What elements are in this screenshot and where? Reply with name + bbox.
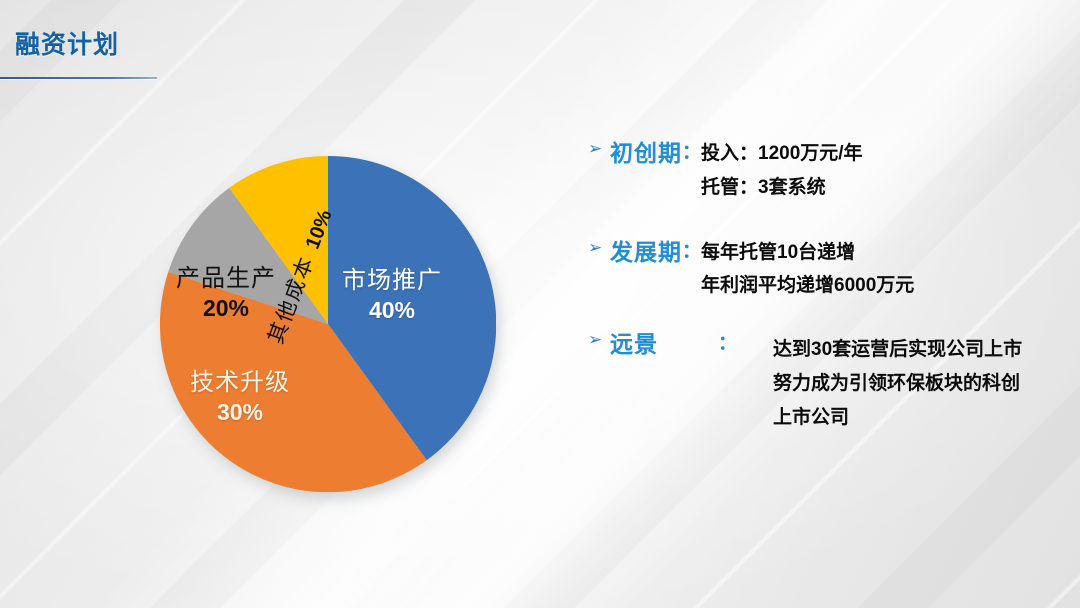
bullet-heading: 远景 — [610, 325, 718, 359]
arrow-bullet-icon: ➢ — [588, 140, 610, 157]
title-underline-rule — [0, 77, 157, 79]
bullet-list: ➢ 初创期 ： 投入：1200万元/年 托管：3套系统 ➢ 发展期 ： 每年托管… — [588, 134, 1058, 435]
page-title: 融资计划 — [15, 25, 119, 61]
arrow-bullet-icon: ➢ — [588, 239, 610, 256]
bullet-body: 投入：1200万元/年 托管：3套系统 — [701, 134, 1058, 205]
pie-chart: 市场推广 40% 技术升级 30% 产品生产 20% 其他成本 10% — [160, 156, 496, 492]
slide-canvas: 融资计划 市场推广 40% 技术升级 30% 产品生产 20% 其他成本 — [0, 0, 1080, 608]
bullet-heading: 发展期 — [610, 233, 682, 267]
bullet-heading-colon: ： — [718, 325, 737, 355]
bullet-item-growth-phase: ➢ 发展期 ： 每年托管10台递增 年利润平均递增6000万元 — [588, 233, 1058, 304]
bullet-line: 投入：1200万元/年 — [701, 137, 1058, 171]
arrow-bullet-icon: ➢ — [588, 331, 610, 348]
bullet-body: 每年托管10台递增 年利润平均递增6000万元 — [701, 233, 1058, 304]
bullet-item-vision: ➢ 远景 ： 达到30套运营后实现公司上市 努力成为引领环保板块的科创 上市公司 — [588, 325, 1058, 434]
bullet-line: 达到30套运营后实现公司上市 — [773, 333, 1058, 367]
bullet-item-startup-phase: ➢ 初创期 ： 投入：1200万元/年 托管：3套系统 — [588, 134, 1058, 205]
bullet-heading-colon: ： — [682, 134, 701, 164]
bullet-line: 努力成为引领环保板块的科创 — [773, 367, 1058, 401]
bullet-line: 每年托管10台递增 — [701, 236, 1058, 270]
bullet-line: 托管：3套系统 — [701, 171, 1058, 205]
bullet-heading: 初创期 — [610, 134, 682, 168]
bullet-body: 达到30套运营后实现公司上市 努力成为引领环保板块的科创 上市公司 — [737, 325, 1058, 434]
bullet-line: 上市公司 — [773, 401, 1058, 435]
bullet-heading-colon: ： — [682, 233, 701, 263]
pie-chart-svg — [160, 156, 496, 492]
bullet-line: 年利润平均递增6000万元 — [701, 269, 1058, 303]
